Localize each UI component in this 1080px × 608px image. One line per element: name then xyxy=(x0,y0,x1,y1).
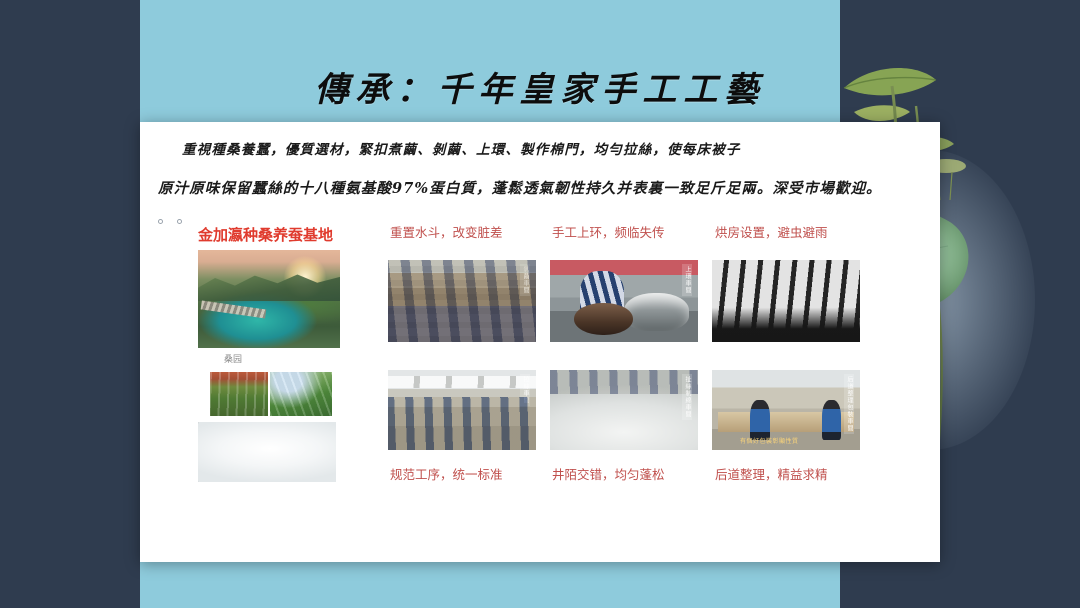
page-title: 傳承：千年皇家手工工藝 xyxy=(0,62,1080,111)
caption-hand-ring: 手工上环，频临失传 xyxy=(552,224,702,241)
photo-peeling-workshop: 剝繭車間 xyxy=(388,260,536,342)
bullet-dot-icon xyxy=(177,219,182,224)
body-paragraph-1: 重視種桑養蠶，優質選材，緊扣煮繭、剝繭、上環、製作棉門，均勻拉絲，使每床被子 xyxy=(182,138,741,158)
caption-finishing: 后道整理，精益求精 xyxy=(715,466,865,483)
photo-drying-room xyxy=(712,260,860,342)
caption-water-vat: 重置水斗，改变脏差 xyxy=(390,224,540,241)
photo-watermark-peeling-workshop: 剝繭車間 xyxy=(520,264,530,296)
slide-card: 重視種桑養蠶，優質選材，緊扣煮繭、剝繭、上環、製作棉門，均勻拉絲，使每床被子 原… xyxy=(140,122,940,562)
body-paragraph-2: 原汁原味保留蠶絲的十八種氨基酸97%蛋白質，蓬鬆透氣韌性持久并表裏一致足斤足兩。… xyxy=(158,177,882,198)
photo-banner-packing: 有個好包裝彰顯性質 xyxy=(740,436,799,445)
photo-packing-workshop: 后道整理包裝車間 有個好包裝彰顯性質 xyxy=(712,370,860,450)
photo-label-mulberry-garden: 桑园 xyxy=(224,352,242,365)
photo-ring-workshop: 上環車間 xyxy=(550,260,698,342)
photo-watermark-spinning-workshop: 拉絲車間 xyxy=(520,374,530,406)
caption-standard: 规范工序，统一标准 xyxy=(390,466,540,483)
photo-silk-floss xyxy=(198,422,336,482)
caption-interlace: 井陌交错，均匀蓬松 xyxy=(552,466,702,483)
photo-mulberry-base xyxy=(198,250,340,348)
photo-watermark-stretch-workshop: 扯絲制綿車間 xyxy=(682,374,692,420)
slide-stage: 傳承：千年皇家手工工藝 重視種桑養蠶，優質選材，緊扣煮繭、剝繭、上環、製作棉門，… xyxy=(0,0,1080,608)
photo-mulberry-field xyxy=(270,372,332,416)
photo-rearing-house xyxy=(210,372,268,416)
caption-drying-room: 烘房设置，避虫避雨 xyxy=(715,224,865,241)
bullet-markers xyxy=(158,219,182,224)
photo-watermark-ring-workshop: 上環車間 xyxy=(682,264,692,296)
photo-spinning-workshop: 拉絲車間 xyxy=(388,370,536,450)
photo-watermark-packing-workshop: 后道整理包裝車間 xyxy=(844,374,854,434)
bullet-dot-icon xyxy=(158,219,163,224)
caption-base: 金加瀛种桑养蚕基地 xyxy=(198,226,358,245)
photo-stretch-workshop: 扯絲制綿車間 xyxy=(550,370,698,450)
